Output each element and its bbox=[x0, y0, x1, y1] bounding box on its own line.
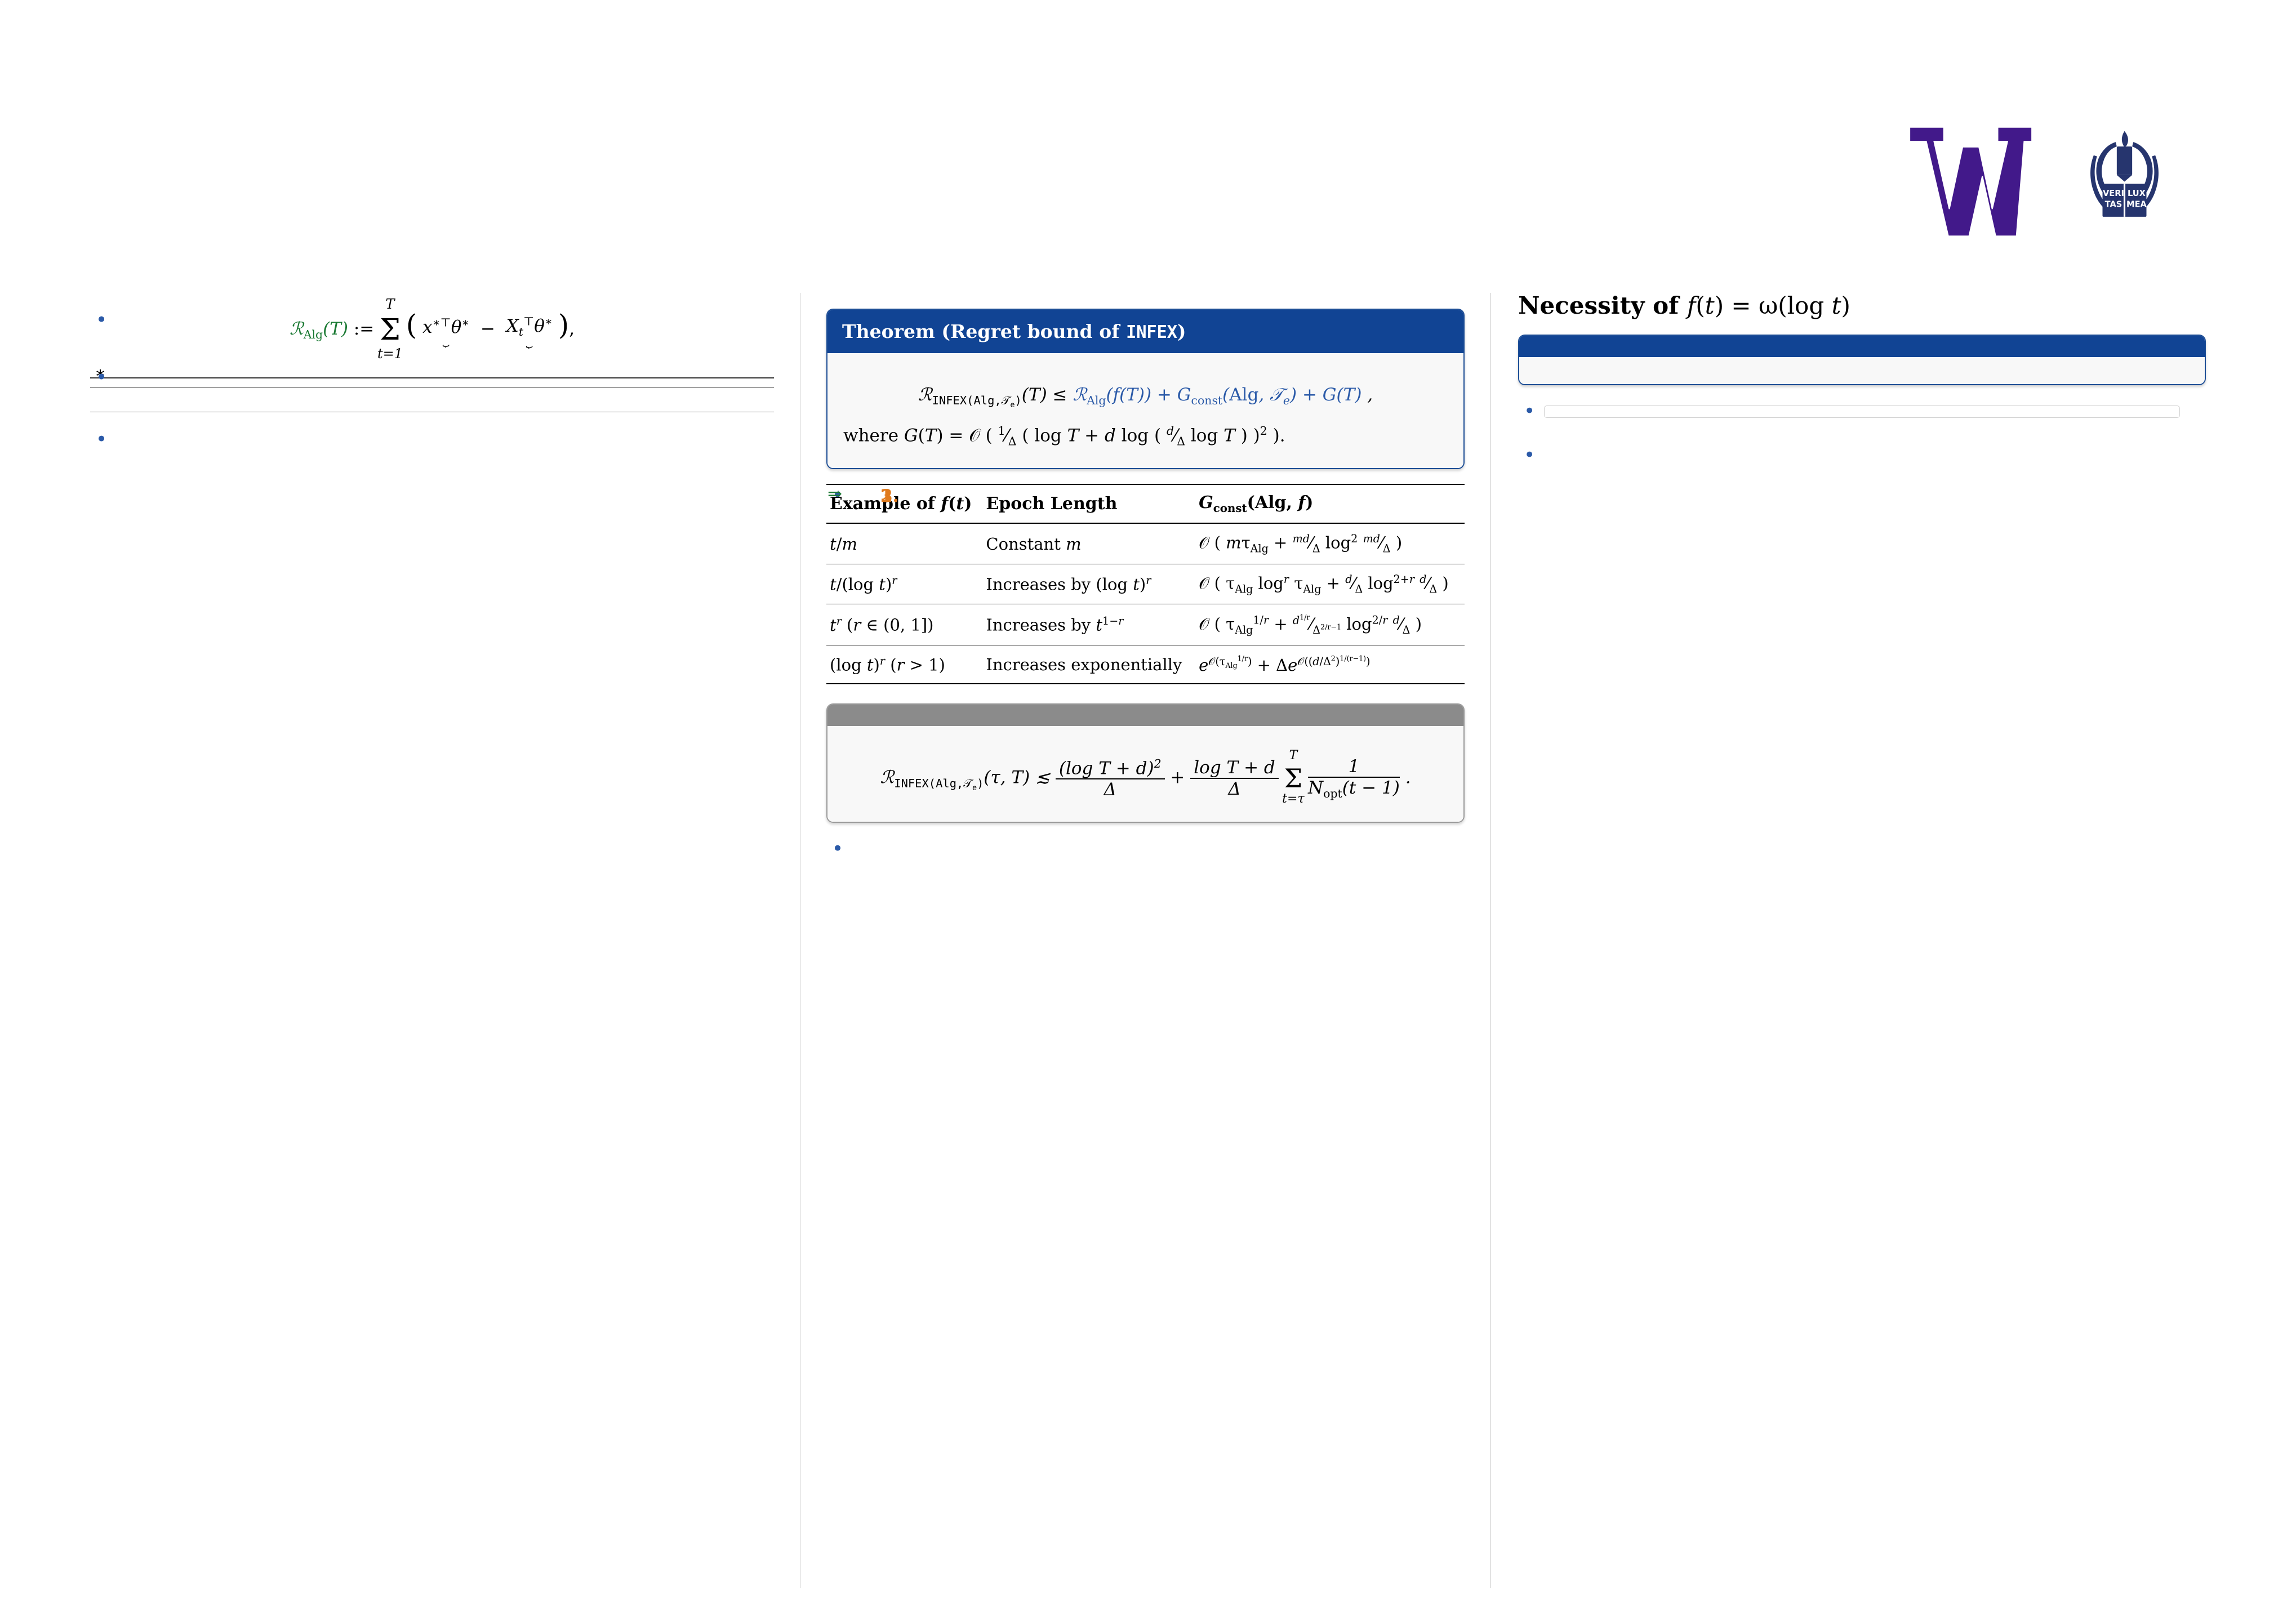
table-row: tr (r ∈ (0, 1]) Increases by t1−r 𝒪 ( τA… bbox=[826, 604, 1465, 645]
algorithm-line bbox=[90, 405, 774, 406]
table-cell: 𝒪 ( τAlg1/r + d1/r⁄Δ2/r−1 log2/r d⁄Δ ) bbox=[1195, 604, 1465, 645]
theorem-lower-bound bbox=[1518, 335, 2206, 385]
table-cell: (log t)r (r > 1) bbox=[826, 645, 982, 684]
svg-text:TAS: TAS bbox=[2105, 199, 2123, 209]
table-cell: t/(log t)r bbox=[826, 564, 982, 604]
uw-logo-icon bbox=[1908, 121, 2040, 242]
lemma-box: ℛINFEX(Alg,𝒯e)(τ, T) ≲ (log T + d)2 Δ + … bbox=[826, 703, 1465, 823]
algorithm-reward-term: Xt⊤θ∗ ⏟ bbox=[506, 314, 553, 345]
poster-columns: ℛAlg(T) := T Σ t=1 ( x∗⊤θ∗ ⏟ − Xt⊤θ∗ ⏟ bbox=[90, 293, 2206, 1588]
table-cell: 𝒪 ( mτAlg + md⁄Δ log2 md⁄Δ ) bbox=[1195, 523, 1465, 564]
algorithm-title bbox=[90, 378, 774, 387]
table-row: t/m Constant m 𝒪 ( mτAlg + md⁄Δ log2 md⁄… bbox=[826, 523, 1465, 564]
algorithm-lines bbox=[90, 388, 774, 412]
table-cell: tr (r ∈ (0, 1]) bbox=[826, 604, 982, 645]
column-middle: Theorem (Regret bound of INFEX) ℛINFEX(A… bbox=[800, 293, 1490, 1588]
algorithm-block bbox=[90, 377, 774, 412]
table-cell: Increases by (log t)r bbox=[982, 564, 1195, 604]
poster-root: VERILUX TASMEA ℛAlg(T) := T Σ bbox=[0, 0, 2296, 1622]
svg-text:MEA: MEA bbox=[2126, 199, 2147, 209]
figure-1 bbox=[1518, 405, 2206, 431]
chart-legend bbox=[1544, 405, 2180, 418]
table-row: t/(log t)r Increases by (log t)r 𝒪 ( τAl… bbox=[826, 564, 1465, 604]
snu-crest-icon: VERILUX TASMEA bbox=[2070, 127, 2179, 237]
regret-definition-equation: ℛAlg(T) := T Σ t=1 ( x∗⊤θ∗ ⏟ − Xt⊤θ∗ ⏟ bbox=[90, 309, 774, 347]
table-cell: e𝒪(τAlg1/r) + Δe𝒪((d/Δ2)1/(r−1)) bbox=[1195, 645, 1465, 684]
svg-text:VERI: VERI bbox=[2103, 189, 2124, 198]
column-right: Necessity of f(t) = ω(log t) bbox=[1490, 293, 2206, 1588]
table-cell: Increases exponentially bbox=[982, 645, 1195, 684]
optimal-reward-term: x∗⊤θ∗ ⏟ bbox=[422, 315, 469, 344]
logo-group: VERILUX TASMEA bbox=[1908, 121, 2209, 242]
table-cell: Constant m bbox=[982, 523, 1195, 564]
svg-text:LUX: LUX bbox=[2128, 189, 2146, 198]
theorem-title bbox=[1519, 336, 2205, 357]
lemma-equation: ℛINFEX(Alg,𝒯e)(τ, T) ≲ (log T + d)2 Δ + … bbox=[843, 756, 1448, 800]
table-header-cell: Gconst(Alg, f) bbox=[1195, 484, 1465, 523]
table-header-cell: Epoch Length bbox=[982, 484, 1195, 523]
theorem-where: where G(T) = 𝒪 ( 1⁄Δ ( log T + d log ( d… bbox=[843, 423, 1448, 450]
theorem-title: Theorem (Regret bound of INFEX) bbox=[827, 310, 1463, 353]
table-cell: t/m bbox=[826, 523, 982, 564]
table-gconst-bounds: Example of f(t) Epoch Length Gconst(Alg,… bbox=[826, 484, 1465, 684]
section-necessity: Necessity of f(t) = ω(log t) bbox=[1518, 293, 2206, 319]
table-row: (log t)r (r > 1) Increases exponentially… bbox=[826, 645, 1465, 684]
lemma-title bbox=[827, 705, 1463, 726]
poster-header bbox=[104, 68, 2206, 253]
column-left: ℛAlg(T) := T Σ t=1 ( x∗⊤θ∗ ⏟ − Xt⊤θ∗ ⏟ bbox=[90, 293, 800, 1588]
theorem-regret-bound: Theorem (Regret bound of INFEX) ℛINFEX(A… bbox=[826, 309, 1465, 469]
theorem-equation: ℛINFEX(Alg,𝒯e)(T) ≤ ℛAlg(f(T)) + Gconst(… bbox=[843, 385, 1448, 409]
table-cell: Increases by t1−r bbox=[982, 604, 1195, 645]
table-cell: 𝒪 ( τAlg logr τAlg + d⁄Δ log2+r d⁄Δ ) bbox=[1195, 564, 1465, 604]
table-header-cell: Example of f(t) bbox=[826, 484, 982, 523]
